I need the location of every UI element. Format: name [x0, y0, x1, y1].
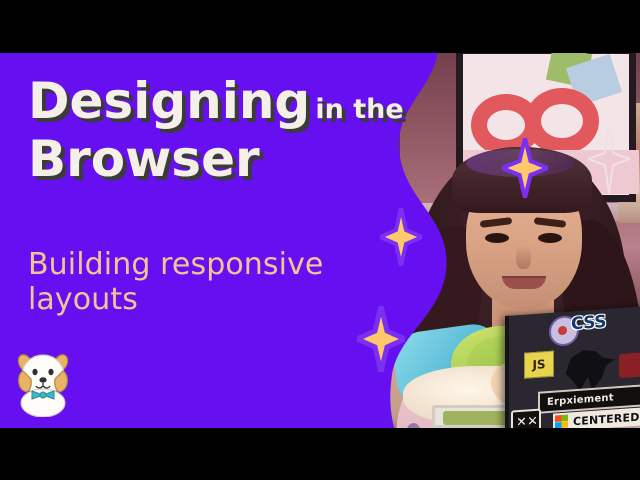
nose [516, 245, 531, 269]
sparkle-outline-upper-right [588, 125, 630, 193]
headline: Designing in the Browser [28, 76, 428, 184]
video-thumbnail: CSS JS Erpxiement CENTERED [0, 0, 640, 480]
octocat-eye [558, 326, 567, 336]
eye-right [538, 233, 562, 243]
centered-sticker-label: CENTERED [573, 410, 640, 428]
letterbox-bottom [0, 428, 640, 480]
sparkle-gold-upper [502, 138, 548, 198]
sparkle-gold-mid [380, 208, 422, 266]
subtitle: Building responsive layouts [28, 248, 368, 318]
headline-line-2: Browser [28, 134, 428, 184]
css-sticker-label: CSS [571, 314, 606, 333]
letterbox-top [0, 0, 640, 53]
headline-line-1-small: in the [315, 94, 403, 125]
mouth [502, 276, 546, 289]
eye-left [485, 233, 509, 243]
windows-logo-icon [555, 415, 568, 428]
video-stage: CSS JS Erpxiement CENTERED [0, 53, 640, 428]
trex-sticker [561, 340, 617, 392]
headline-line-1: Designing [28, 72, 310, 130]
laptop-lid: CSS JS Erpxiement CENTERED [505, 306, 640, 428]
dog-mascot-logo [10, 345, 76, 417]
sparkle-gold-lower [357, 306, 405, 372]
js-sticker: JS [524, 351, 554, 379]
red-sticker [619, 352, 640, 378]
broken-camera-sticker [511, 409, 541, 428]
experiment-sticker-label: Erpxiement [547, 392, 614, 408]
